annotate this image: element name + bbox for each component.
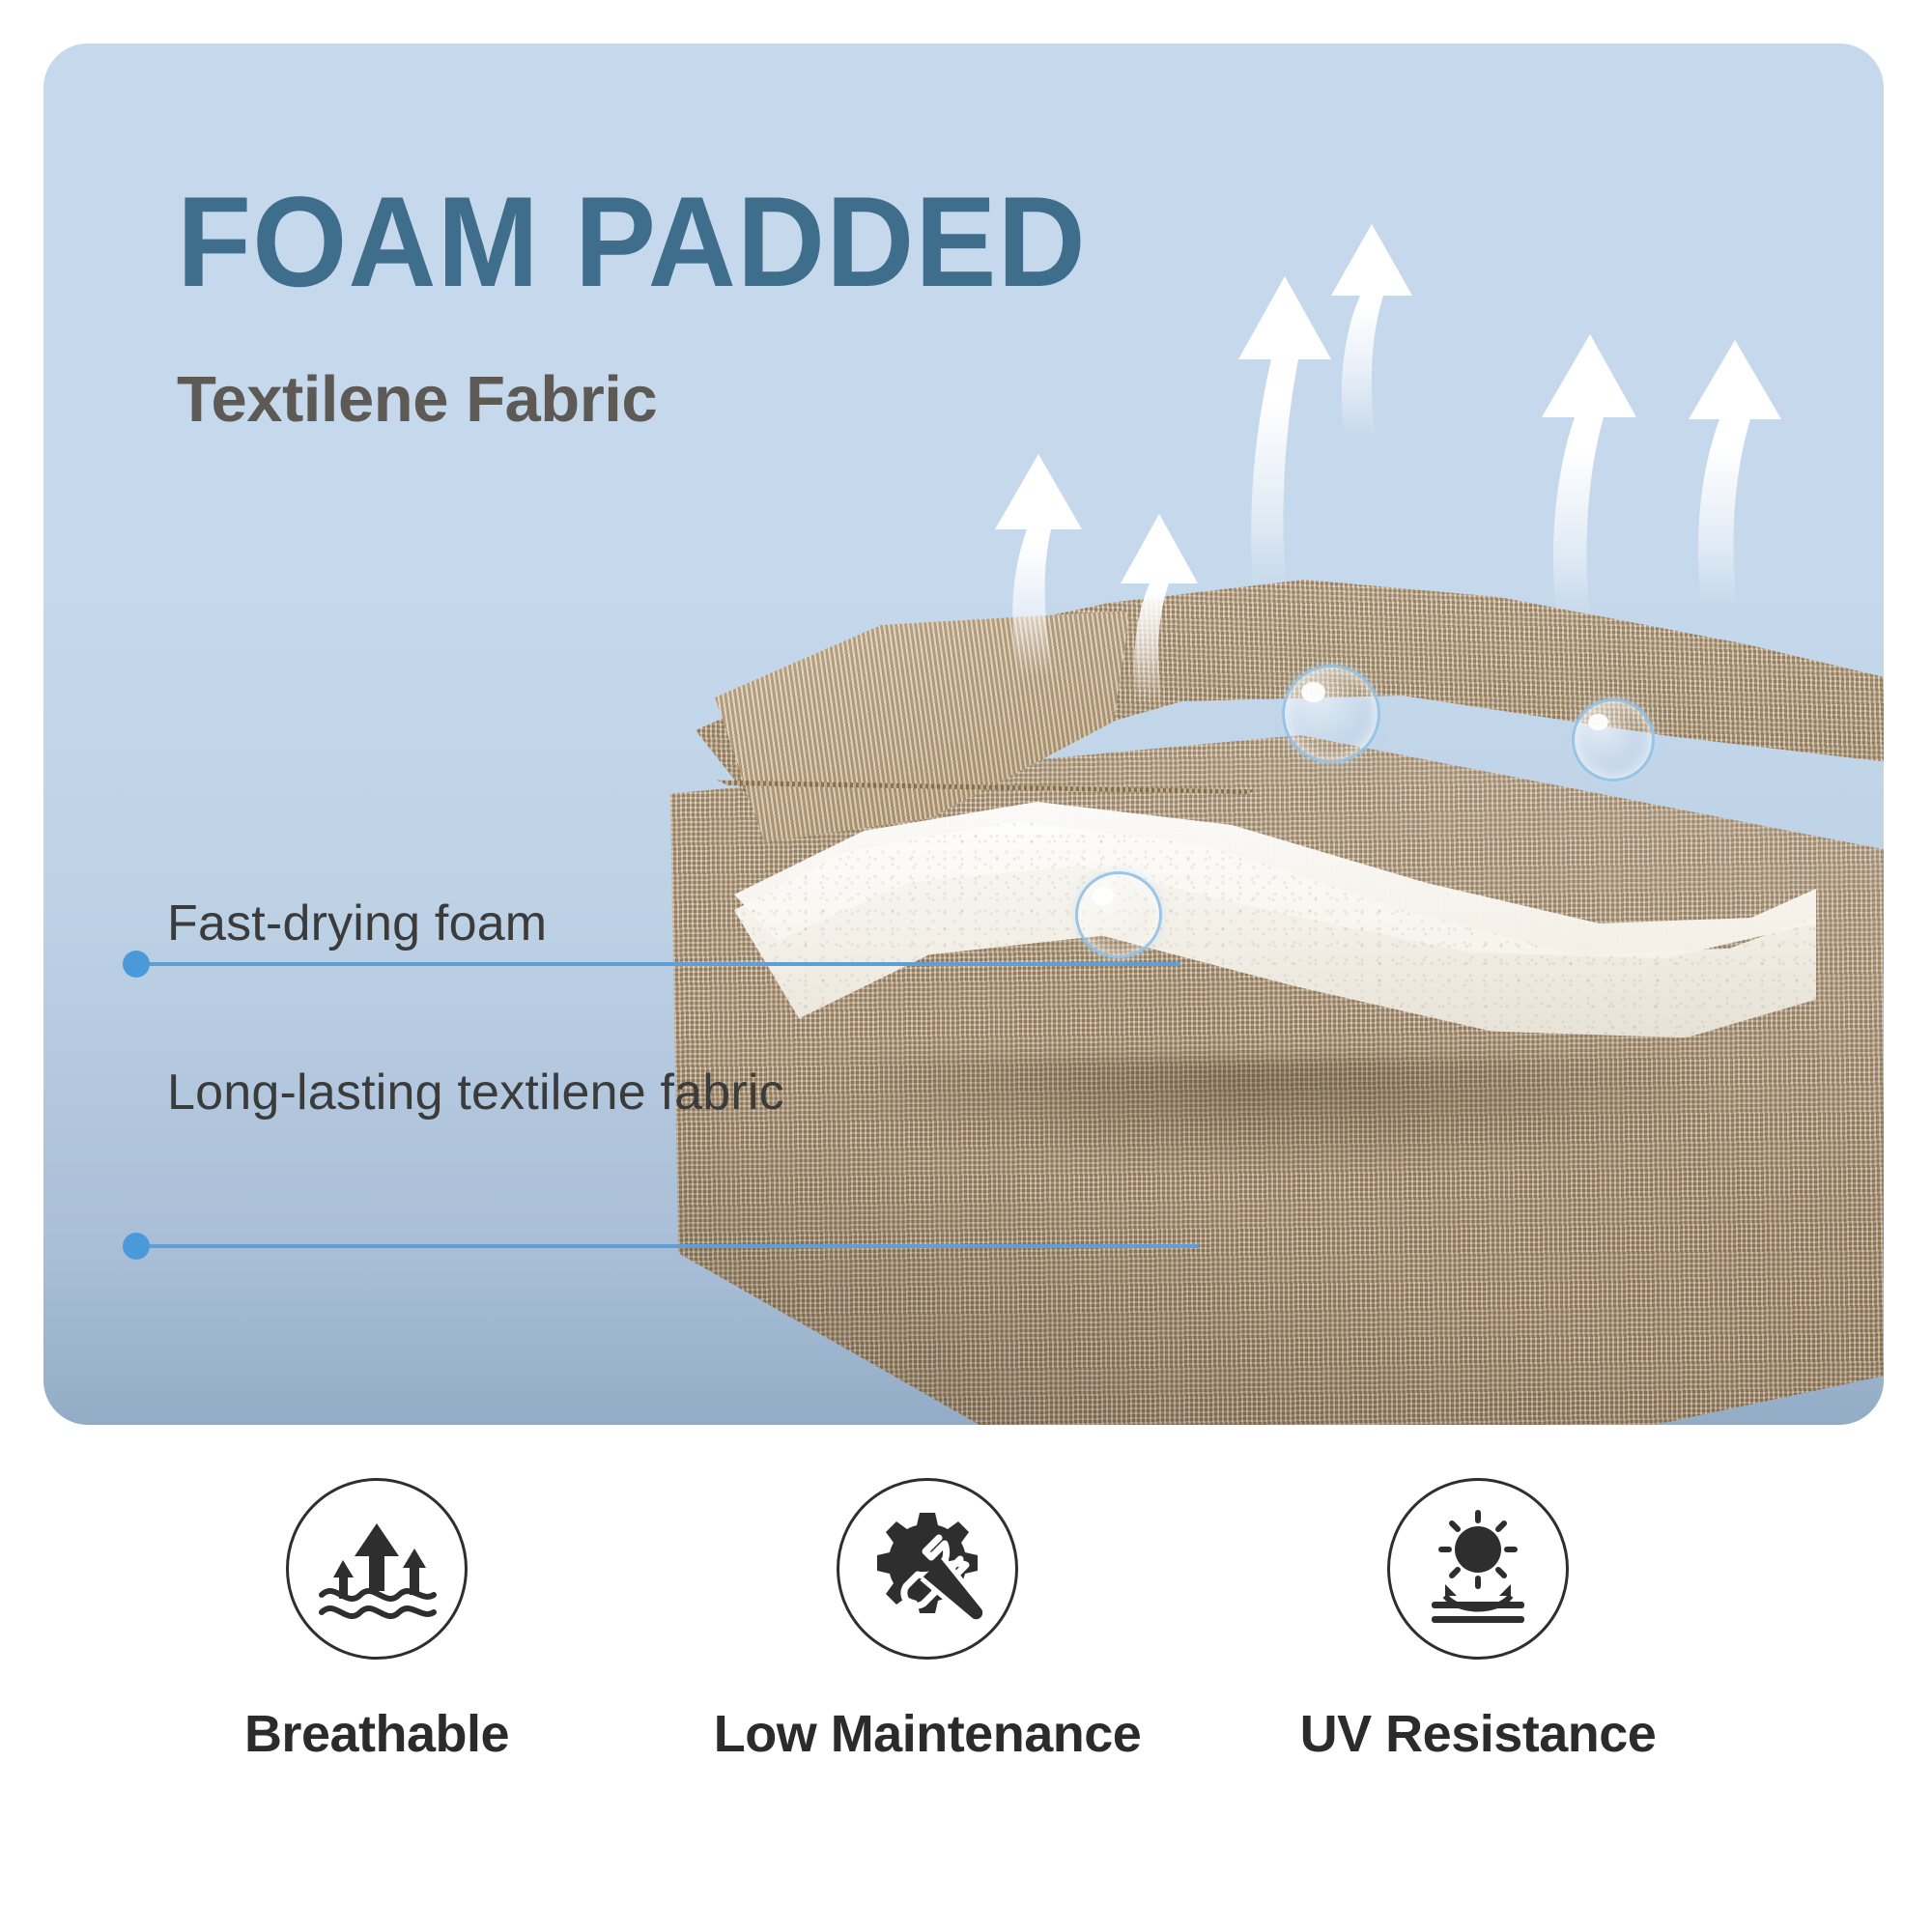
callout-marker-dot-2 — [123, 1233, 150, 1260]
callout-label-long-lasting-fabric: Long-lasting textilene fabric — [167, 1061, 785, 1125]
product-illustration — [43, 43, 1884, 1425]
feature-label-breathable: Breathable — [155, 1704, 599, 1764]
feature-item-low-maintenance: Low Maintenance — [705, 1478, 1150, 1764]
airflow-arrow-2 — [1238, 276, 1331, 589]
feature-label-low-maintenance: Low Maintenance — [705, 1704, 1150, 1764]
infographic-canvas: FOAM PADDED Textilene Fabric — [0, 0, 1932, 1932]
hero-panel: FOAM PADDED Textilene Fabric — [43, 43, 1884, 1425]
airflow-arrow-5 — [1542, 334, 1636, 618]
feature-label-uv-resistance: UV Resistance — [1256, 1704, 1700, 1764]
feature-row: Breathable Low Maintenance — [0, 1478, 1932, 1884]
water-droplet-bubble-1 — [1282, 665, 1380, 763]
airflow-arrow-3 — [1329, 201, 1414, 415]
callout-leader-line-2 — [136, 1244, 1199, 1248]
water-droplet-bubble-2 — [1572, 698, 1655, 781]
feature-item-uv-resistance: UV Resistance — [1256, 1478, 1700, 1764]
callout-label-fast-drying-foam: Fast-drying foam — [167, 892, 547, 956]
gear-wrench-icon — [837, 1478, 1018, 1660]
callout-marker-dot-1 — [123, 951, 150, 978]
feature-item-breathable: Breathable — [155, 1478, 599, 1764]
callout-leader-line-1 — [136, 962, 1179, 966]
airflow-arrow-7 — [1331, 224, 1412, 437]
sun-shield-icon — [1387, 1478, 1569, 1660]
foam-drop-shadow — [773, 1059, 1739, 1175]
breathable-airflow-icon — [286, 1478, 468, 1660]
airflow-arrow-6 — [1689, 340, 1781, 607]
water-droplet-bubble-3 — [1075, 871, 1162, 958]
